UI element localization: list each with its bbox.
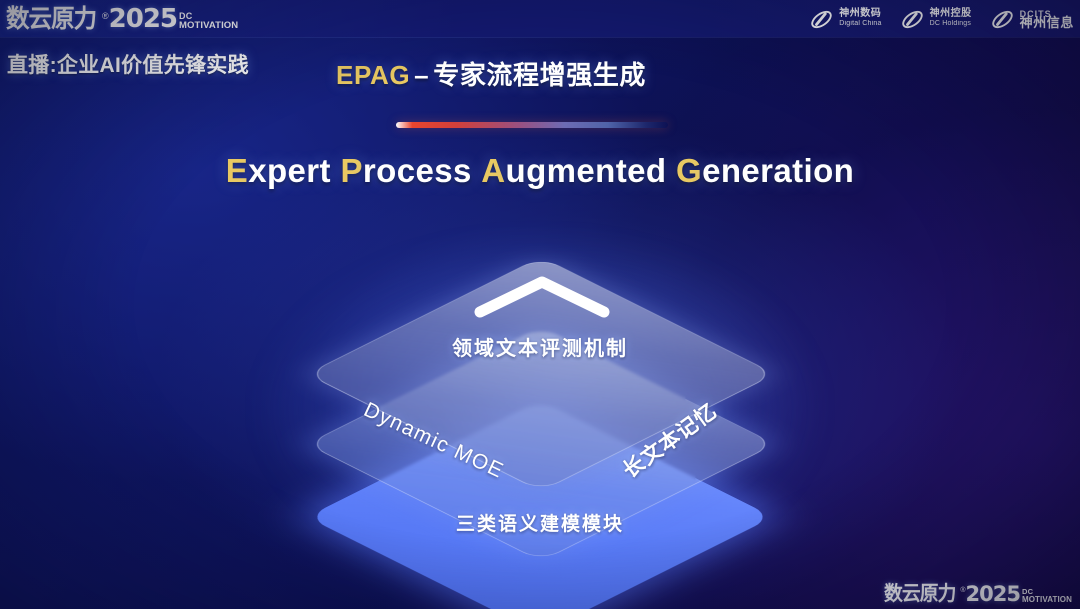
acronym-expansion: Expert Process Augmented Generation bbox=[0, 152, 1080, 190]
registered-mark: ® bbox=[102, 11, 109, 32]
partner-label: DCITS 神州信息 bbox=[1020, 9, 1074, 29]
expansion-rest-4: eneration bbox=[702, 152, 854, 189]
live-stream-title: 直播:企业AI价值先锋实践 bbox=[7, 49, 249, 79]
watermark-year: 2025 bbox=[966, 584, 1020, 605]
diagram-label-top: 领域文本评测机制 bbox=[240, 332, 840, 361]
partner-name-en: DC Holdings bbox=[930, 19, 972, 29]
brand-logo: 数云原力 ® 2025 DC MOTIVATION bbox=[6, 2, 238, 32]
watermark-brand-cn: 数云原力 bbox=[884, 584, 955, 605]
layered-architecture-diagram: 领域文本评测机制 Dynamic MOE 长文本记忆 三类语义建模模块 bbox=[240, 222, 840, 582]
accent-divider bbox=[396, 122, 668, 128]
partner-logo-dc-holdings: 神州控股 DC Holdings bbox=[900, 7, 972, 32]
partner-logo-dcits: DCITS 神州信息 bbox=[990, 7, 1074, 32]
partner-label: 神州控股 DC Holdings bbox=[930, 9, 972, 29]
partner-name-en: DCITS bbox=[1020, 9, 1074, 19]
expansion-cap-1: E bbox=[226, 152, 248, 189]
title-dash: – bbox=[410, 60, 433, 90]
partner-name-en: Digital China bbox=[839, 19, 881, 29]
expansion-rest-1: xpert bbox=[248, 152, 331, 189]
partner-name-cn: 神州控股 bbox=[930, 9, 972, 19]
brand-subtitle: DC MOTIVATION bbox=[179, 12, 238, 32]
diagram-label-bottom: 三类语义建模模块 bbox=[240, 509, 840, 536]
swoosh-icon bbox=[990, 7, 1015, 32]
presentation-slide: 数云原力 ® 2025 DC MOTIVATION 神州数码 Digital C… bbox=[0, 0, 1080, 609]
brand-name-cn: 数云原力 bbox=[6, 6, 96, 32]
partner-logo-digital-china: 神州数码 Digital China bbox=[809, 7, 881, 32]
partner-name-cn: 神州数码 bbox=[839, 9, 881, 19]
watermark-dc-line2: MOTIVATION bbox=[1022, 596, 1072, 604]
page-title: EPAG–专家流程增强生成 bbox=[336, 55, 646, 92]
header-bar: 数云原力 ® 2025 DC MOTIVATION 神州数码 Digital C… bbox=[0, 0, 1080, 37]
footer-watermark-logo: 数云原力 ® 2025 DC MOTIVATION bbox=[884, 584, 1072, 605]
expansion-rest-3: ugmented bbox=[506, 152, 667, 189]
brand-dc-line2: MOTIVATION bbox=[179, 21, 238, 30]
title-acronym: EPAG bbox=[336, 60, 410, 90]
watermark-subtitle: DC MOTIVATION bbox=[1022, 588, 1072, 605]
expansion-rest-2: rocess bbox=[363, 152, 472, 189]
swoosh-icon bbox=[809, 7, 834, 32]
brand-year: 2025 bbox=[109, 6, 177, 32]
partner-name-cn: 神州信息 bbox=[1020, 19, 1074, 29]
title-subtitle-cn: 专家流程增强生成 bbox=[433, 60, 646, 90]
swoosh-icon bbox=[900, 7, 925, 32]
partner-logo-group: 神州数码 Digital China 神州控股 DC Holdings bbox=[809, 4, 1074, 34]
expansion-cap-4: G bbox=[676, 152, 702, 189]
expansion-cap-2: P bbox=[340, 152, 362, 189]
partner-label: 神州数码 Digital China bbox=[839, 9, 881, 29]
expansion-cap-3: A bbox=[481, 152, 505, 189]
chevron-up-icon bbox=[472, 274, 612, 318]
